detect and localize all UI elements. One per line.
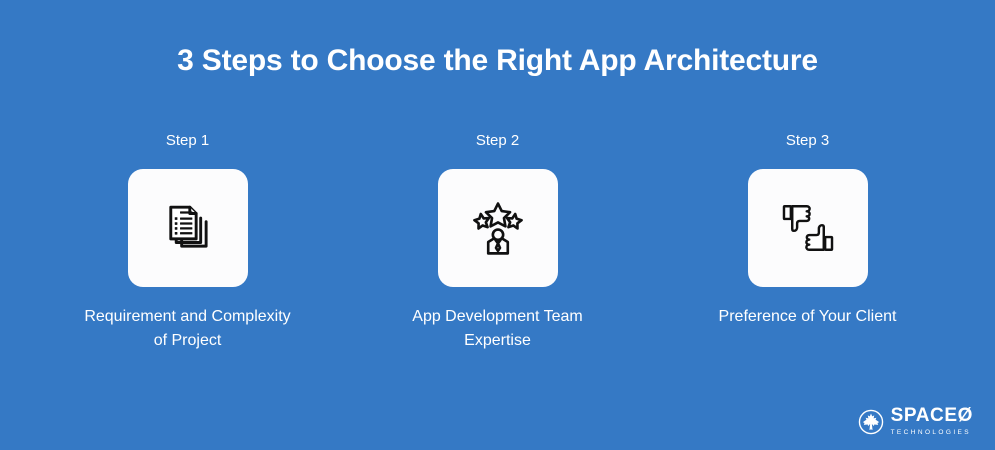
step-column-3: Step 3 Preference of You (653, 130, 963, 329)
step-card-3[interactable] (748, 169, 868, 287)
step-label-2: Step 2 (476, 130, 519, 152)
brand-tagline: TECHNOLOGIES (891, 427, 971, 438)
step-caption-1: Requirement and Complexity of Project (78, 305, 298, 353)
infographic-slide: 3 Steps to Choose the Right App Architec… (0, 0, 995, 450)
steps-row: Step 1 (0, 130, 995, 353)
step-caption-3: Preference of Your Client (719, 305, 897, 329)
step-caption-2: App Development Team Expertise (388, 305, 608, 353)
thumbs-up-down-icon (779, 199, 837, 257)
brand-text: SPACEØ TECHNOLOGIES (891, 406, 973, 438)
step-column-1: Step 1 (33, 130, 343, 353)
step-card-1[interactable] (128, 169, 248, 287)
brand-name: SPACEØ (891, 406, 973, 425)
step-column-2: Step 2 Ap (343, 130, 653, 353)
documents-stack-icon (159, 199, 217, 257)
brand-logo[interactable]: SPACEØ TECHNOLOGIES (858, 406, 973, 438)
page-title: 3 Steps to Choose the Right App Architec… (0, 41, 995, 81)
maple-leaf-circle-icon (858, 409, 884, 435)
step-label-3: Step 3 (786, 130, 829, 152)
person-with-stars-icon (469, 199, 527, 257)
step-card-2[interactable] (438, 169, 558, 287)
step-label-1: Step 1 (166, 130, 209, 152)
